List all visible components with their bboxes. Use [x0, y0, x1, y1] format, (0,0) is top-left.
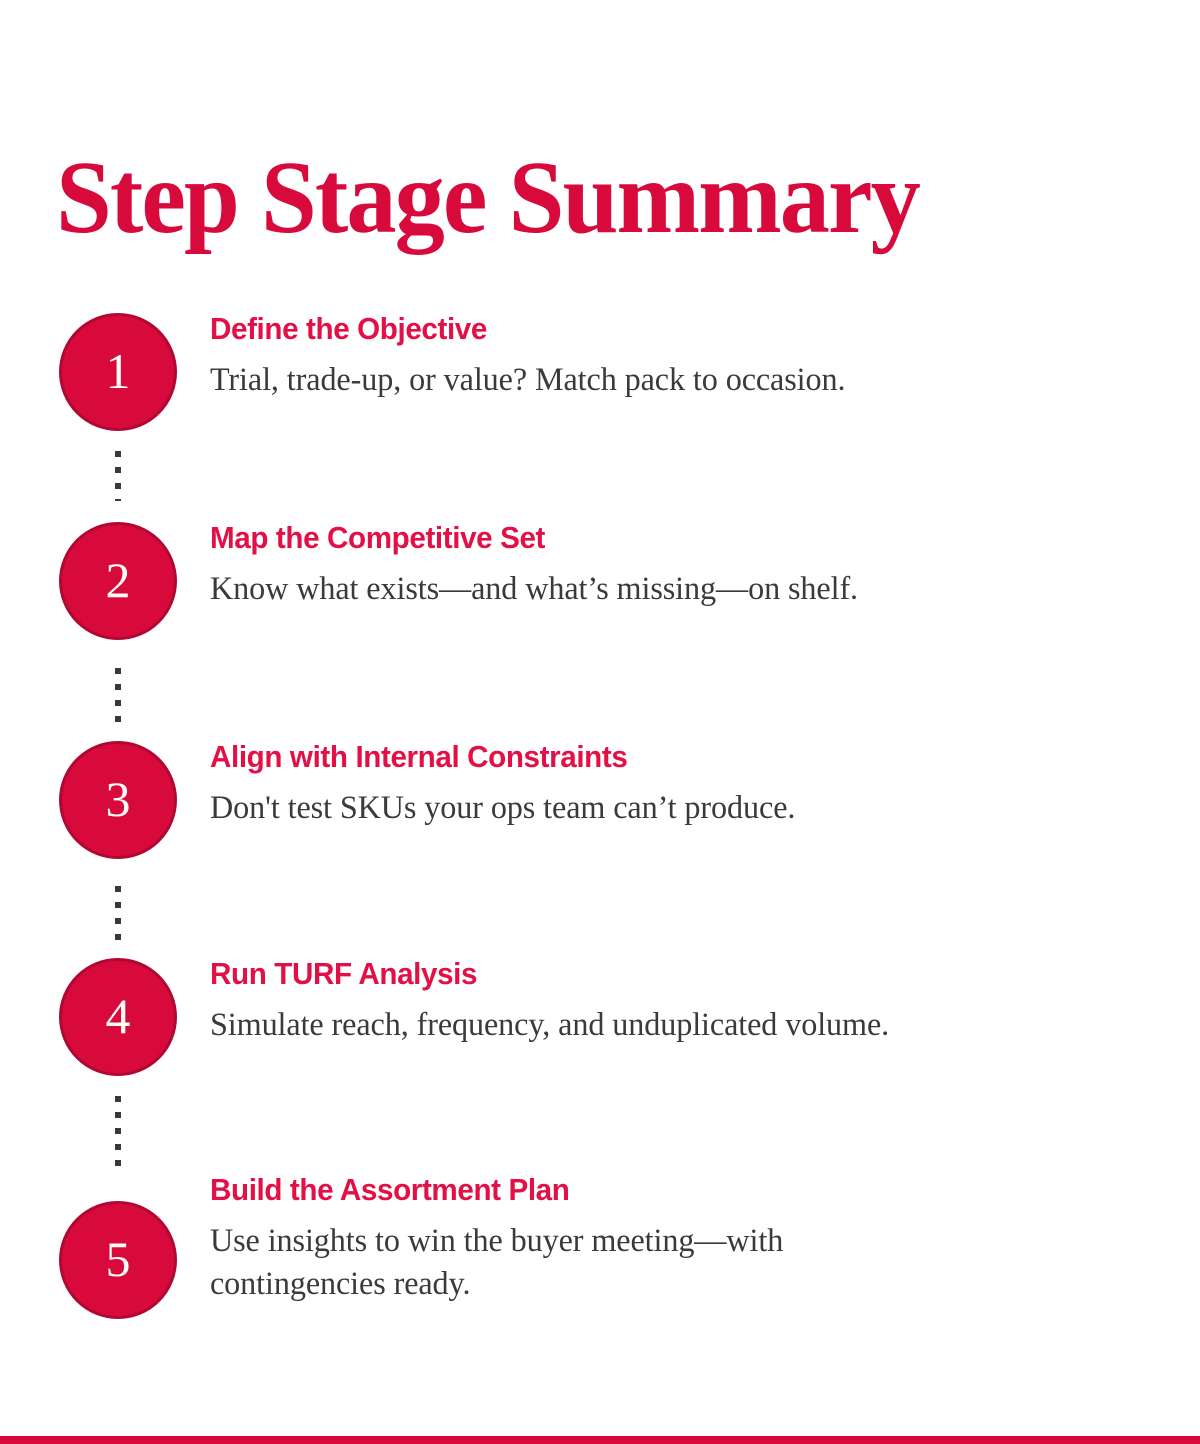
step-heading: Define the Objective [210, 313, 1108, 346]
step-list: 1 Define the Objective Trial, trade-up, … [0, 0, 1200, 1444]
step-number-label: 5 [106, 1234, 131, 1284]
infographic-page: Step Stage Summary 1 Define the Objectiv… [0, 0, 1200, 1444]
step-heading: Map the Competitive Set [210, 522, 1108, 555]
step-number-badge: 1 [59, 313, 177, 431]
step-number-label: 3 [106, 774, 131, 824]
step-description: Simulate reach, frequency, and unduplica… [210, 1004, 1127, 1047]
step-connector-dotted-line [115, 451, 121, 501]
step-number-badge: 2 [59, 522, 177, 640]
step-text-block: Align with Internal Constraints Don't te… [210, 741, 1150, 830]
step-heading: Align with Internal Constraints [210, 741, 1108, 774]
step-connector-dotted-line [115, 1096, 121, 1174]
step-description: Use insights to win the buyer meeting—wi… [210, 1220, 936, 1306]
step-text-block: Run TURF Analysis Simulate reach, freque… [210, 958, 1150, 1047]
step-heading: Build the Assortment Plan [210, 1174, 1108, 1207]
step-description: Know what exists—and what’s missing—on s… [210, 568, 1127, 611]
footer-accent-bar [0, 1436, 1200, 1444]
step-description: Trial, trade-up, or value? Match pack to… [210, 359, 1127, 402]
step-number-label: 1 [106, 346, 131, 396]
step-number-badge: 5 [59, 1201, 177, 1319]
step-text-block: Build the Assortment Plan Use insights t… [210, 1174, 1150, 1306]
step-number-label: 4 [106, 991, 131, 1041]
step-number-badge: 3 [59, 741, 177, 859]
step-connector-dotted-line [115, 668, 121, 730]
step-text-block: Define the Objective Trial, trade-up, or… [210, 313, 1150, 402]
step-number-label: 2 [106, 555, 131, 605]
step-number-badge: 4 [59, 958, 177, 1076]
step-text-block: Map the Competitive Set Know what exists… [210, 522, 1150, 611]
step-heading: Run TURF Analysis [210, 958, 1108, 991]
step-connector-dotted-line [115, 886, 121, 948]
step-description: Don't test SKUs your ops team can’t prod… [210, 787, 1127, 830]
